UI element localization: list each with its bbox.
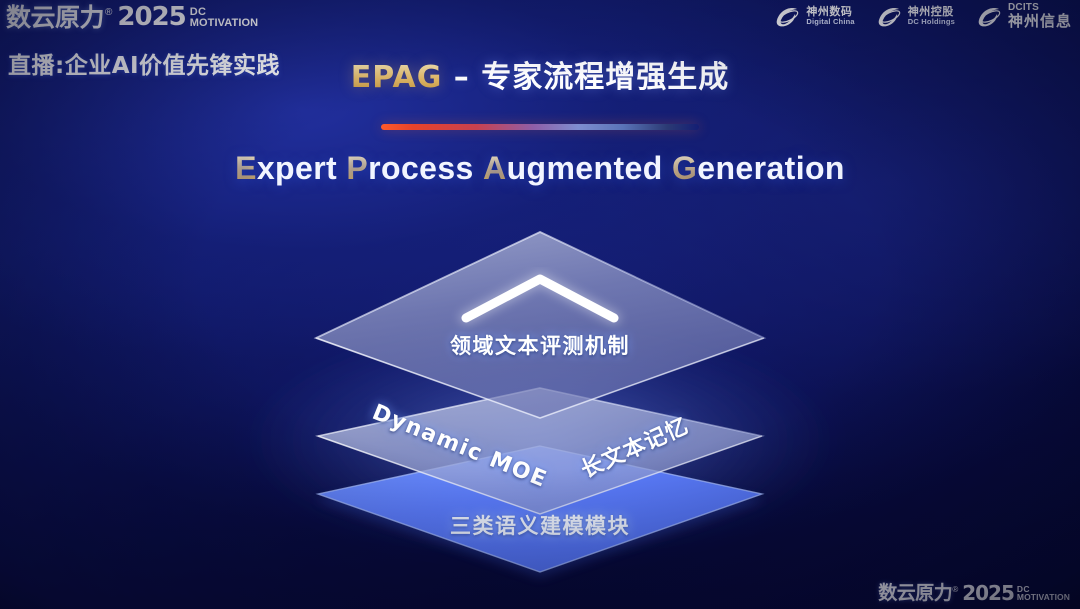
slide-canvas: 数云原力 ® 2025 DC MOTIVATION 直播:企业AI价值先锋实践 … [0, 0, 1080, 609]
corner-watermark: 数云原力 ® 2025 DC MOTIVATION [878, 583, 1070, 603]
watermark-dc-line2: MOTIVATION [1017, 593, 1070, 601]
watermark-registered-mark: ® [952, 585, 958, 594]
watermark-year: 2025 [962, 583, 1014, 603]
watermark-dc-motivation: DC MOTIVATION [1017, 585, 1070, 601]
watermark-name-cn: 数云原力 [878, 584, 952, 603]
layer-stack-diagram: 领域文本评测机制 Dynamic MOE 长文本记忆 三类语义建模模块 [0, 0, 1080, 609]
